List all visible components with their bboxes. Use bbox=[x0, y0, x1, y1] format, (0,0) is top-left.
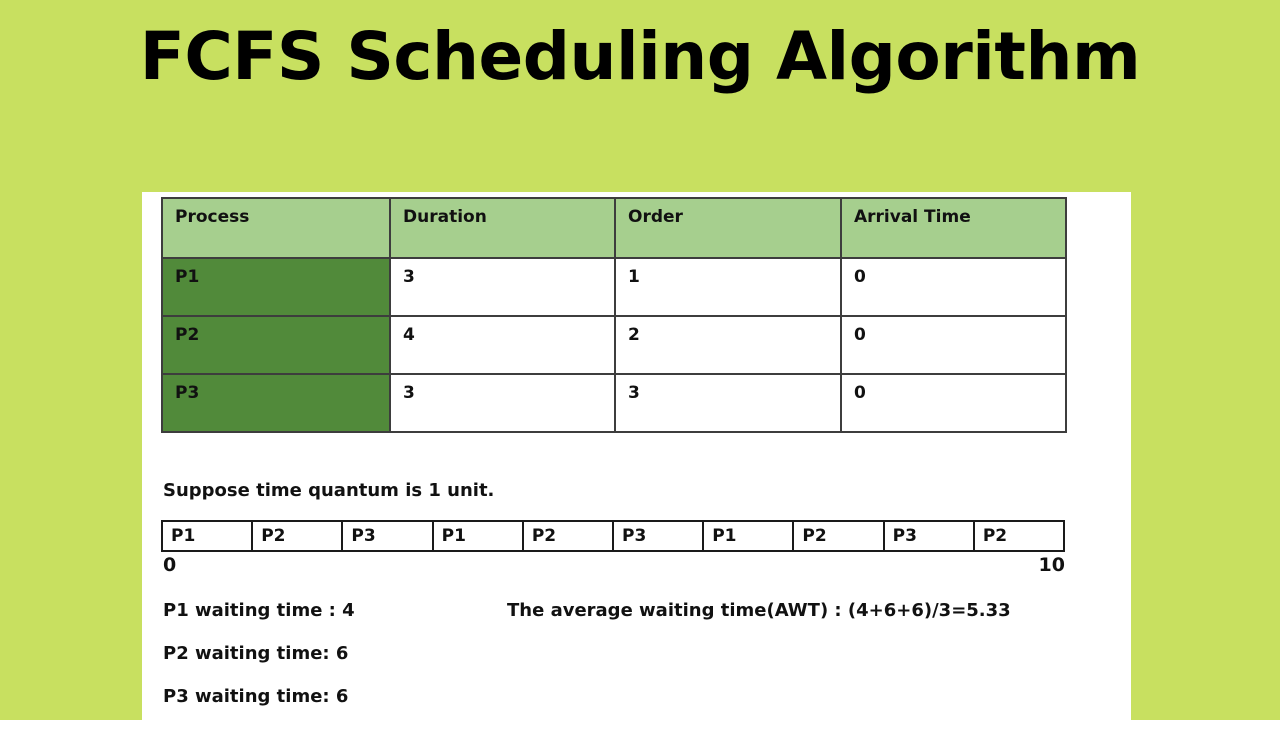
gantt-axis-end-label: 10 bbox=[1039, 554, 1065, 576]
column-header-arrival-time: Arrival Time bbox=[841, 198, 1066, 258]
cell-process-p1: P1 bbox=[162, 258, 390, 316]
table-header-row: Process Duration Order Arrival Time bbox=[162, 198, 1066, 258]
gantt-axis-start-label: 0 bbox=[163, 554, 176, 576]
content-panel: Process Duration Order Arrival Time P1 3… bbox=[142, 192, 1131, 720]
page-title: FCFS Scheduling Algorithm bbox=[0, 22, 1280, 91]
cell-duration-p2: 4 bbox=[390, 316, 615, 374]
gantt-axis: 0 10 bbox=[161, 554, 1065, 580]
cell-order-p3: 3 bbox=[615, 374, 841, 432]
cell-order-p1: 1 bbox=[615, 258, 841, 316]
waiting-time-p2: P2 waiting time: 6 bbox=[163, 643, 523, 664]
gantt-slot: P2 bbox=[253, 522, 343, 550]
slide-canvas: FCFS Scheduling Algorithm Process Durati… bbox=[0, 0, 1280, 720]
gantt-chart: P1 P2 P3 P1 P2 P3 P1 P2 P3 P2 bbox=[161, 520, 1065, 552]
waiting-time-p1: P1 waiting time : 4 bbox=[163, 600, 523, 621]
gantt-slot: P2 bbox=[975, 522, 1063, 550]
cell-order-p2: 2 bbox=[615, 316, 841, 374]
cell-duration-p1: 3 bbox=[390, 258, 615, 316]
table-row: P1 3 1 0 bbox=[162, 258, 1066, 316]
time-quantum-note: Suppose time quantum is 1 unit. bbox=[163, 480, 494, 501]
cell-arrival-p2: 0 bbox=[841, 316, 1066, 374]
gantt-slot: P1 bbox=[163, 522, 253, 550]
cell-arrival-p3: 0 bbox=[841, 374, 1066, 432]
table-row: P2 4 2 0 bbox=[162, 316, 1066, 374]
gantt-slot: P1 bbox=[704, 522, 794, 550]
waiting-time-list: P1 waiting time : 4 P2 waiting time: 6 P… bbox=[163, 600, 523, 729]
column-header-process: Process bbox=[162, 198, 390, 258]
cell-duration-p3: 3 bbox=[390, 374, 615, 432]
cell-process-p2: P2 bbox=[162, 316, 390, 374]
column-header-order: Order bbox=[615, 198, 841, 258]
gantt-slot: P1 bbox=[434, 522, 524, 550]
gantt-slot: P3 bbox=[343, 522, 433, 550]
cell-process-p3: P3 bbox=[162, 374, 390, 432]
table-row: P3 3 3 0 bbox=[162, 374, 1066, 432]
average-waiting-time: The average waiting time(AWT) : (4+6+6)/… bbox=[507, 600, 1011, 621]
process-table: Process Duration Order Arrival Time P1 3… bbox=[161, 197, 1067, 433]
gantt-slot: P2 bbox=[524, 522, 614, 550]
cell-arrival-p1: 0 bbox=[841, 258, 1066, 316]
gantt-slot: P3 bbox=[614, 522, 704, 550]
gantt-slot: P2 bbox=[794, 522, 884, 550]
gantt-slot: P3 bbox=[885, 522, 975, 550]
column-header-duration: Duration bbox=[390, 198, 615, 258]
waiting-time-p3: P3 waiting time: 6 bbox=[163, 686, 523, 707]
